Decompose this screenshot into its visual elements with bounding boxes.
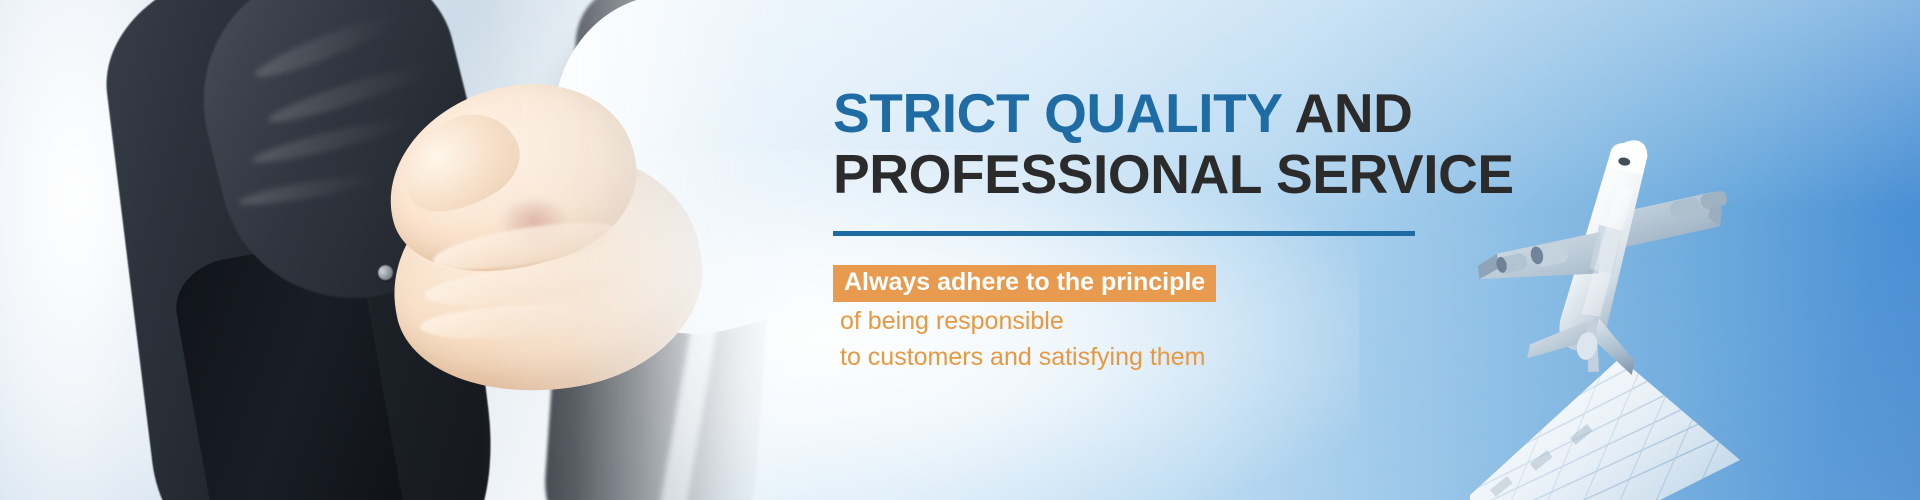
divider (833, 231, 1415, 236)
headline-highlight: STRICT QUALITY (833, 82, 1282, 144)
headline-rest: AND (1282, 82, 1413, 144)
banner-content: STRICT QUALITY AND PROFESSIONAL SERVICE … (833, 84, 1533, 374)
page-subtitle: PROFESSIONAL SERVICE (833, 145, 1533, 204)
page-title: STRICT QUALITY AND (833, 84, 1533, 143)
promo-banner: STRICT QUALITY AND PROFESSIONAL SERVICE … (0, 0, 1920, 500)
photo-fade-overlay (0, 0, 800, 500)
tagline-line-2: of being responsible (833, 305, 1533, 338)
tagline-line-3: to customers and satisfying them (833, 341, 1533, 374)
business-handshake-photo (0, 0, 800, 500)
tagline-highlight: Always adhere to the principle (833, 265, 1216, 302)
tagline-block: Always adhere to the principle of being … (833, 265, 1533, 374)
